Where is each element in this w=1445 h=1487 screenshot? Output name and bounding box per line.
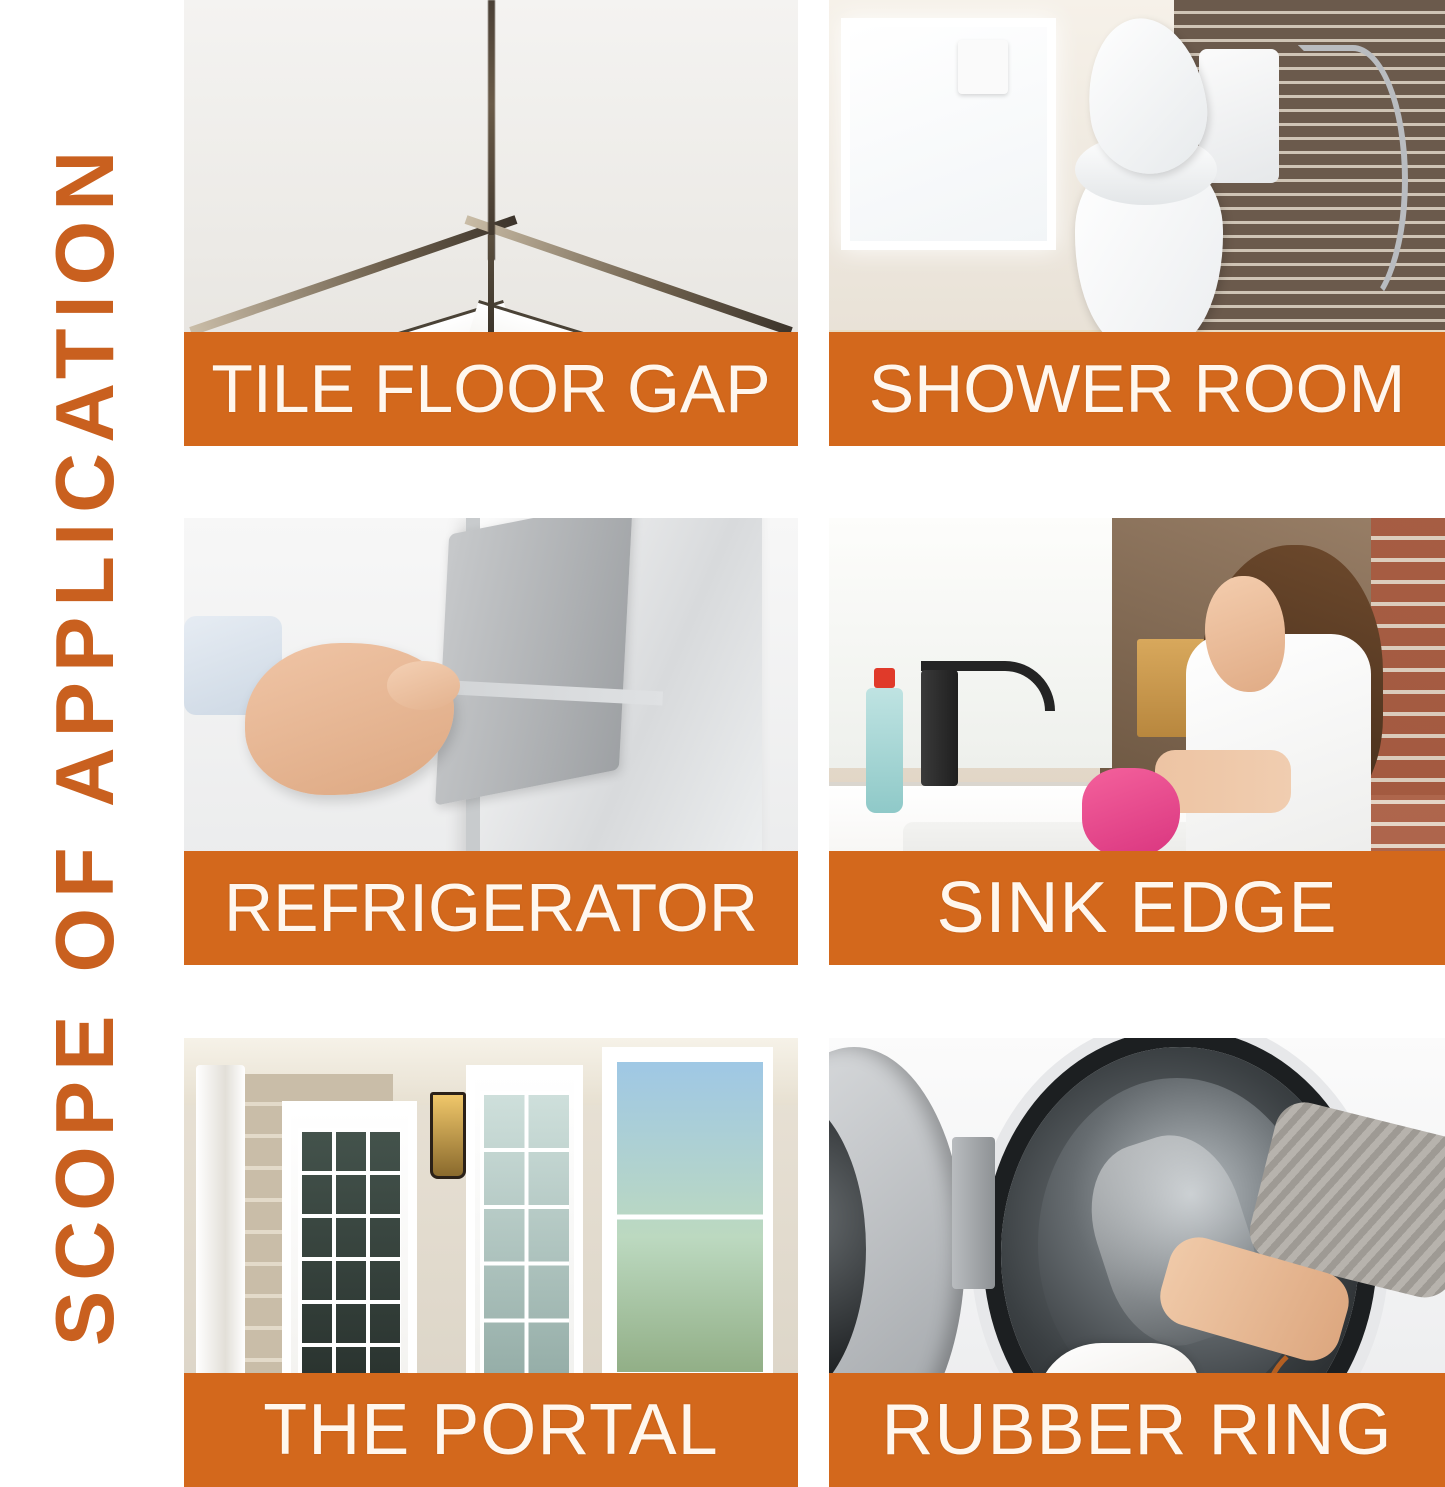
faucet-body	[921, 670, 958, 786]
application-grid: TILE FLOOR GAP SHOWER ROOM	[184, 0, 1445, 1487]
label-bar-the-portal: THE PORTAL	[184, 1373, 798, 1487]
label-text: RUBBER RING	[881, 1394, 1392, 1466]
grid-cell-the-portal: THE PORTAL	[184, 1038, 798, 1487]
grid-cell-refrigerator: REFRIGERATOR	[184, 518, 798, 965]
page-title: SCOPE OF APPLICATION	[44, 141, 127, 1346]
label-text: SINK EDGE	[936, 872, 1337, 944]
label-bar-sink-edge: SINK EDGE	[829, 851, 1445, 965]
side-title-container: SCOPE OF APPLICATION	[0, 0, 170, 1487]
label-text: REFRIGERATOR	[224, 874, 758, 942]
door-panes	[480, 1091, 569, 1406]
bidet-hose	[1298, 45, 1409, 316]
toilet-paper-holder	[958, 40, 1007, 94]
door-panes	[298, 1128, 401, 1397]
window	[841, 18, 1056, 250]
label-bar-rubber-ring: RUBBER RING	[829, 1373, 1445, 1487]
thumb	[387, 661, 461, 710]
label-bar-tile-floor-gap: TILE FLOOR GAP	[184, 332, 798, 446]
grid-cell-sink-edge: SINK EDGE	[829, 518, 1445, 965]
spray-bottle	[866, 688, 903, 813]
door-gasket	[435, 518, 633, 806]
grid-cell-shower-room: SHOWER ROOM	[829, 0, 1445, 446]
label-text: THE PORTAL	[263, 1394, 718, 1466]
scope-of-application-poster: SCOPE OF APPLICATION TILE FLOOR GAP	[0, 0, 1445, 1487]
grout-line-vertical	[488, 0, 495, 260]
grid-cell-rubber-ring: RUBBER RING	[829, 1038, 1445, 1487]
pink-glove	[1082, 768, 1181, 857]
door-hinge	[952, 1137, 995, 1290]
grid-cell-tile-floor-gap: TILE FLOOR GAP	[184, 0, 798, 446]
wall-lantern	[430, 1092, 467, 1179]
label-text: SHOWER ROOM	[869, 355, 1405, 423]
label-bar-refrigerator: REFRIGERATOR	[184, 851, 798, 965]
label-bar-shower-room: SHOWER ROOM	[829, 332, 1445, 446]
label-text: TILE FLOOR GAP	[211, 355, 770, 423]
